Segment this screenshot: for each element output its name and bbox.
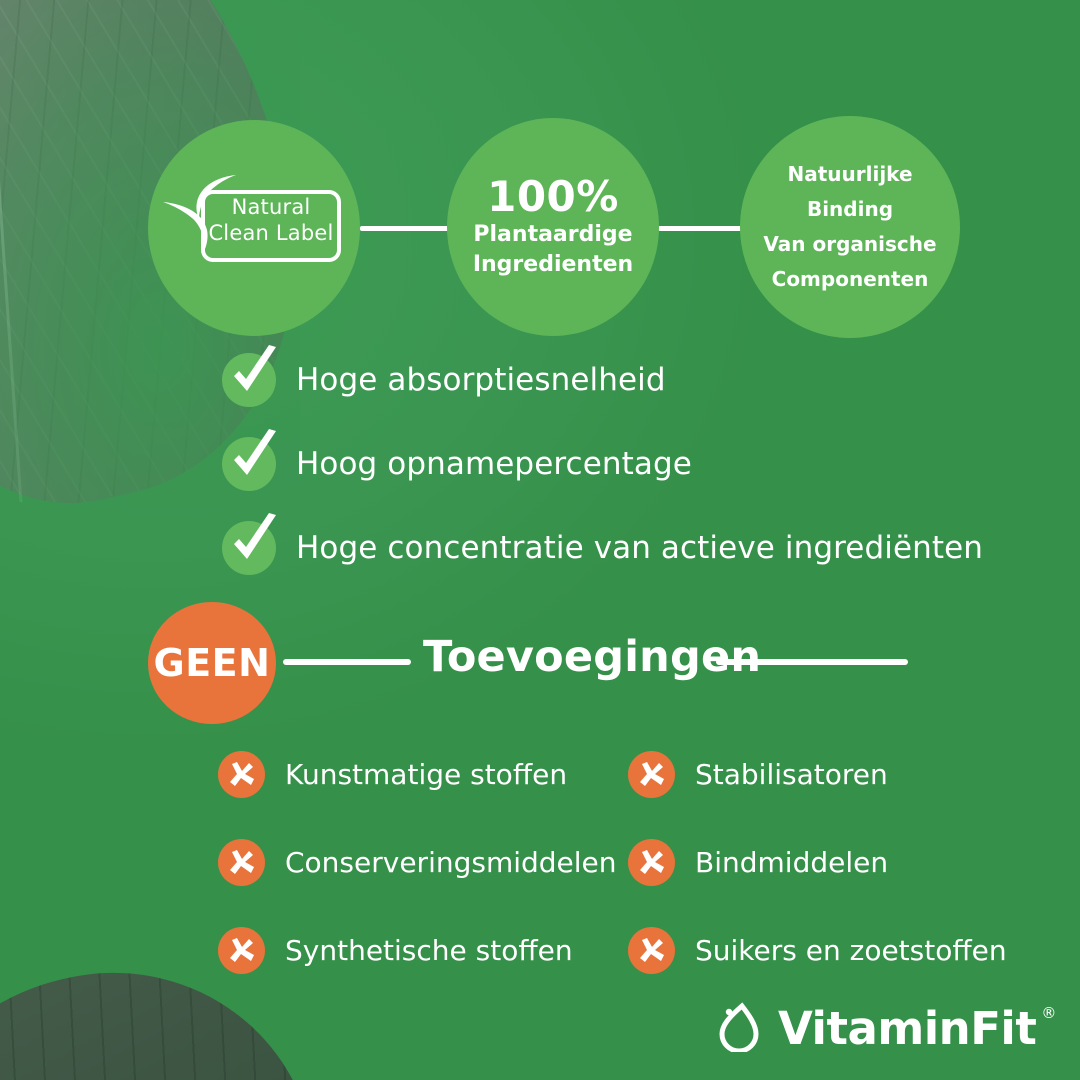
no-additive-label: Bindmiddelen xyxy=(695,846,888,879)
badge-connector-line-2 xyxy=(658,226,742,231)
natural-clean-label-lockup: Natural Clean Label xyxy=(159,168,349,288)
benefit-item: Hoge concentratie van actieve ingrediënt… xyxy=(222,520,982,576)
cross-badge xyxy=(218,927,265,974)
check-icon xyxy=(226,429,282,489)
benefit-label: Hoog opnamepercentage xyxy=(296,446,692,482)
poster-canvas: Natural Clean Label 100% Plantaardige In… xyxy=(0,0,1080,1080)
cross-badge xyxy=(628,839,675,886)
badge-plant-based: 100% Plantaardige Ingredienten xyxy=(447,118,659,336)
badge-plant-based-headline: 100% xyxy=(473,174,633,220)
cross-icon xyxy=(228,761,255,788)
check-badge xyxy=(222,353,276,407)
no-additives-row: Kunstmatige stoffen Stabilisatoren xyxy=(218,746,1048,802)
geen-divider-left xyxy=(283,659,411,665)
benefit-item: Hoge absorptiesnelheid xyxy=(222,352,982,408)
cross-icon xyxy=(228,937,255,964)
cross-badge xyxy=(628,751,675,798)
badge-plant-based-line1: Plantaardige xyxy=(473,220,633,250)
no-additives-header: GEEN Toevoegingen xyxy=(148,602,938,724)
no-additives-row: Synthetische stoffen Suikers en zoetstof… xyxy=(218,922,1048,978)
no-additives-list: Kunstmatige stoffen Stabilisatoren Cons xyxy=(218,746,1048,1010)
benefit-item: Hoog opnamepercentage xyxy=(222,436,982,492)
natural-clean-label-line1: Natural xyxy=(203,194,339,220)
badge-natural-binding-line4: Componenten xyxy=(763,262,936,297)
natural-clean-label-line2: Clean Label xyxy=(203,220,339,246)
cross-icon xyxy=(638,849,665,876)
natural-clean-label-text: Natural Clean Label xyxy=(203,194,339,246)
geen-divider-right xyxy=(716,659,908,665)
no-additives-title: Toevoegingen xyxy=(423,632,761,682)
no-additive-label: Synthetische stoffen xyxy=(285,934,573,967)
cross-icon xyxy=(228,849,255,876)
no-additive-item: Suikers en zoetstoffen xyxy=(628,927,1007,974)
registered-trademark: ® xyxy=(1041,1004,1056,1022)
badge-plant-based-content: 100% Plantaardige Ingredienten xyxy=(473,174,633,280)
badge-natural-binding: Natuurlijke Binding Van organische Compo… xyxy=(740,116,960,338)
cross-badge xyxy=(628,927,675,974)
badge-natural-binding-line3: Van organische xyxy=(763,227,936,262)
badge-connector-line-1 xyxy=(360,226,450,231)
check-badge xyxy=(222,521,276,575)
benefit-label: Hoge concentratie van actieve ingrediënt… xyxy=(296,530,983,566)
no-additive-item: Kunstmatige stoffen xyxy=(218,751,628,798)
cross-badge xyxy=(218,839,265,886)
badge-natural-binding-line2: Binding xyxy=(763,192,936,227)
cross-badge xyxy=(218,751,265,798)
geen-badge: GEEN xyxy=(148,602,276,724)
no-additive-item: Conserveringsmiddelen xyxy=(218,839,628,886)
badge-natural-clean-label: Natural Clean Label xyxy=(148,120,360,336)
geen-badge-label: GEEN xyxy=(154,641,271,685)
badge-natural-binding-content: Natuurlijke Binding Van organische Compo… xyxy=(763,157,936,297)
brand-logo: VitaminFit ® xyxy=(718,1000,1056,1056)
benefits-list: Hoge absorptiesnelheid Hoog opnamepercen… xyxy=(222,352,982,604)
badge-natural-binding-line1: Natuurlijke xyxy=(763,157,936,192)
no-additive-label: Conserveringsmiddelen xyxy=(285,846,617,879)
cross-icon xyxy=(638,761,665,788)
no-additive-label: Kunstmatige stoffen xyxy=(285,758,567,791)
check-icon xyxy=(226,513,282,573)
brand-name: VitaminFit xyxy=(778,1002,1036,1055)
badge-plant-based-line2: Ingredienten xyxy=(473,250,633,280)
no-additive-label: Suikers en zoetstoffen xyxy=(695,934,1007,967)
check-badge xyxy=(222,437,276,491)
no-additive-item: Bindmiddelen xyxy=(628,839,888,886)
benefit-label: Hoge absorptiesnelheid xyxy=(296,362,666,398)
droplet-outline-icon xyxy=(718,1000,764,1056)
no-additive-label: Stabilisatoren xyxy=(695,758,888,791)
cross-icon xyxy=(638,937,665,964)
no-additives-row: Conserveringsmiddelen Bindmiddelen xyxy=(218,834,1048,890)
no-additive-item: Synthetische stoffen xyxy=(218,927,628,974)
check-icon xyxy=(226,345,282,405)
no-additive-item: Stabilisatoren xyxy=(628,751,888,798)
